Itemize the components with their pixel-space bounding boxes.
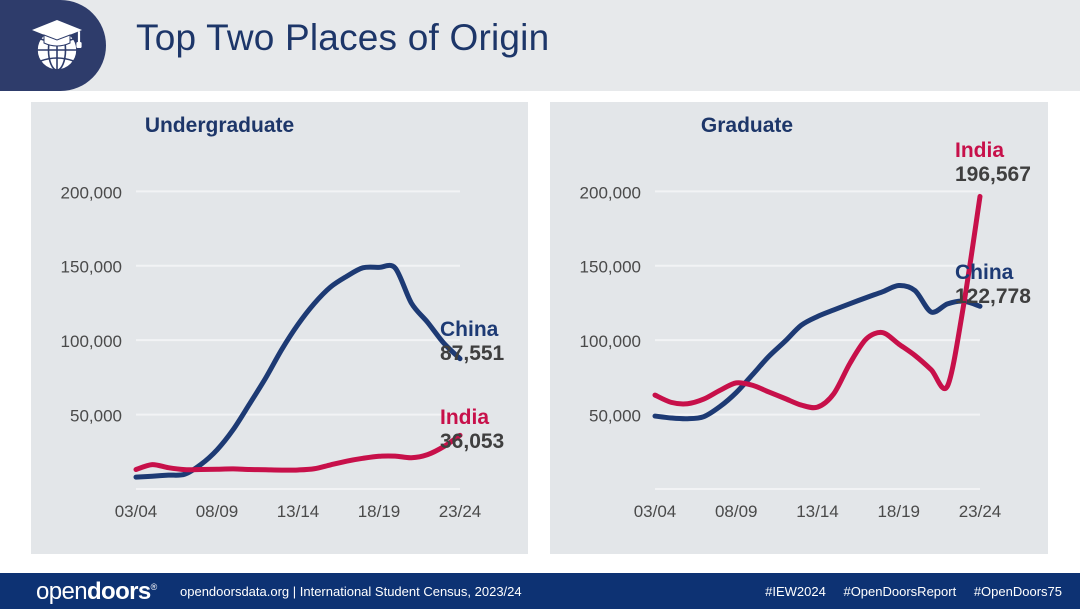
svg-text:150,000: 150,000 (61, 258, 122, 277)
hashtag-opendoors75: #OpenDoors75 (974, 584, 1062, 599)
svg-text:13/14: 13/14 (277, 502, 320, 521)
hashtag-opendoorsreport: #OpenDoorsReport (843, 584, 956, 599)
callout-graduate-india: India 196,567 (955, 139, 1031, 186)
logo-plate (0, 0, 106, 91)
callout-value-china: 122,778 (955, 285, 1031, 309)
callout-undergraduate-india: India 36,053 (440, 406, 504, 453)
svg-text:100,000: 100,000 (61, 332, 122, 351)
svg-text:03/04: 03/04 (634, 502, 677, 521)
svg-text:200,000: 200,000 (580, 183, 641, 202)
svg-text:08/09: 08/09 (715, 502, 758, 521)
svg-text:50,000: 50,000 (70, 407, 122, 426)
callout-label-india: India (955, 139, 1031, 163)
svg-text:08/09: 08/09 (196, 502, 239, 521)
svg-text:03/04: 03/04 (115, 502, 158, 521)
svg-text:200,000: 200,000 (61, 183, 122, 202)
callout-value-china: 87,551 (440, 342, 504, 366)
svg-text:18/19: 18/19 (358, 502, 401, 521)
svg-text:100,000: 100,000 (580, 332, 641, 351)
callout-graduate-china: China 122,778 (955, 261, 1031, 308)
logo-text-doors: doors (87, 578, 151, 605)
graduation-cap-globe-icon (24, 12, 90, 78)
logo-text-open: open (36, 578, 87, 605)
svg-text:50,000: 50,000 (589, 407, 641, 426)
callout-label-india: India (440, 406, 504, 430)
opendoors-logo: opendoors® (36, 578, 157, 606)
callout-value-india: 36,053 (440, 430, 504, 454)
svg-text:23/24: 23/24 (959, 502, 1002, 521)
svg-text:13/14: 13/14 (796, 502, 839, 521)
hashtag-iew2024: #IEW2024 (765, 584, 826, 599)
page-title: Top Two Places of Origin (136, 17, 549, 59)
svg-text:150,000: 150,000 (580, 258, 641, 277)
callout-value-india: 196,567 (955, 163, 1031, 187)
footer-hashtags: #IEW2024 #OpenDoorsReport #OpenDoors75 (751, 584, 1062, 599)
svg-text:23/24: 23/24 (439, 502, 482, 521)
callout-label-china: China (440, 318, 504, 342)
svg-text:18/19: 18/19 (877, 502, 920, 521)
registered-mark-icon: ® (151, 582, 157, 592)
page-footer: opendoors® opendoorsdata.org | Internati… (0, 573, 1080, 609)
callout-undergraduate-china: China 87,551 (440, 318, 504, 365)
callout-label-china: China (955, 261, 1031, 285)
footer-credit: opendoorsdata.org | International Studen… (180, 584, 522, 599)
page-header: Top Two Places of Origin (0, 0, 1080, 91)
